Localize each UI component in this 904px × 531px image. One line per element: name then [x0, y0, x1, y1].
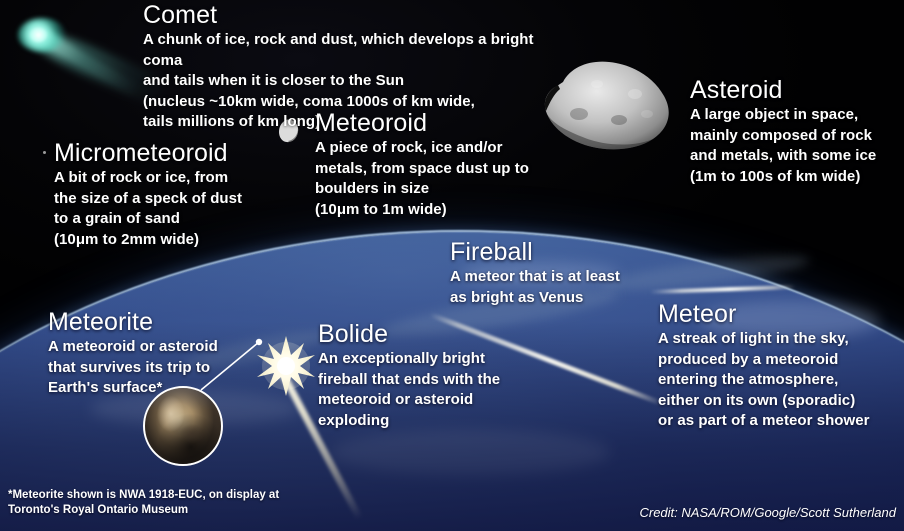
term-line: (10μm to 2mm wide): [54, 230, 289, 251]
term-line: (10μm to 1m wide): [315, 200, 555, 221]
term-line: (1m to 100s of km wide): [690, 167, 904, 188]
term-line: A large object in space,: [690, 105, 904, 126]
term-block-micrometeoroid: Micrometeoroid A bit of rock or ice, fro…: [54, 139, 289, 250]
term-line: and tails when it is closer to the Sun: [143, 71, 573, 92]
term-line: mainly composed of rock: [690, 126, 904, 147]
space-rock-infographic: Comet A chunk of ice, rock and dust, whi…: [0, 0, 904, 531]
term-heading-comet: Comet: [143, 1, 573, 29]
term-line: entering the atmosphere,: [658, 370, 904, 391]
term-line: A meteor that is at least: [450, 267, 660, 288]
term-heading-meteoroid: Meteoroid: [315, 109, 555, 137]
term-line: A meteoroid or asteroid: [48, 337, 263, 358]
term-line: metals, from space dust up to: [315, 159, 555, 180]
term-line: fireball that ends with the: [318, 370, 518, 391]
term-line: Earth's surface*: [48, 378, 263, 399]
term-line: meteoroid or asteroid: [318, 390, 518, 411]
term-line: An exceptionally bright: [318, 349, 518, 370]
term-line: either on its own (sporadic): [658, 391, 904, 412]
term-line: A bit of rock or ice, from: [54, 168, 289, 189]
term-line: the size of a speck of dust: [54, 189, 289, 210]
term-heading-micrometeoroid: Micrometeoroid: [54, 139, 289, 167]
term-line: boulders in size: [315, 179, 555, 200]
term-line: and metals, with some ice: [690, 146, 904, 167]
term-line: exploding: [318, 411, 518, 432]
term-block-meteorite: Meteorite A meteoroid or asteroid that s…: [48, 308, 263, 399]
term-line: produced by a meteoroid: [658, 350, 904, 371]
micrometeoroid-dot-graphic: [43, 151, 46, 154]
footnote-text: *Meteorite shown is NWA 1918-EUC, on dis…: [8, 488, 308, 518]
term-block-meteor: Meteor A streak of light in the sky, pro…: [658, 300, 904, 432]
term-block-fireball: Fireball A meteor that is at least as br…: [450, 238, 660, 308]
term-heading-meteor: Meteor: [658, 300, 904, 328]
term-line: as bright as Venus: [450, 288, 660, 309]
term-line: A piece of rock, ice and/or: [315, 138, 555, 159]
meteorite-photo-shading: [145, 388, 221, 464]
term-line: A streak of light in the sky,: [658, 329, 904, 350]
term-line: A chunk of ice, rock and dust, which dev…: [143, 30, 573, 71]
term-heading-meteorite: Meteorite: [48, 308, 263, 336]
term-block-bolide: Bolide An exceptionally bright fireball …: [318, 320, 518, 431]
term-line: that survives its trip to: [48, 358, 263, 379]
term-block-meteoroid: Meteoroid A piece of rock, ice and/or me…: [315, 109, 555, 220]
term-line: or as part of a meteor shower: [658, 411, 904, 432]
term-heading-fireball: Fireball: [450, 238, 660, 266]
term-heading-bolide: Bolide: [318, 320, 518, 348]
term-block-asteroid: Asteroid A large object in space, mainly…: [690, 76, 904, 187]
credit-text: Credit: NASA/ROM/Google/Scott Sutherland: [639, 505, 896, 520]
term-line: to a grain of sand: [54, 209, 289, 230]
term-heading-asteroid: Asteroid: [690, 76, 904, 104]
